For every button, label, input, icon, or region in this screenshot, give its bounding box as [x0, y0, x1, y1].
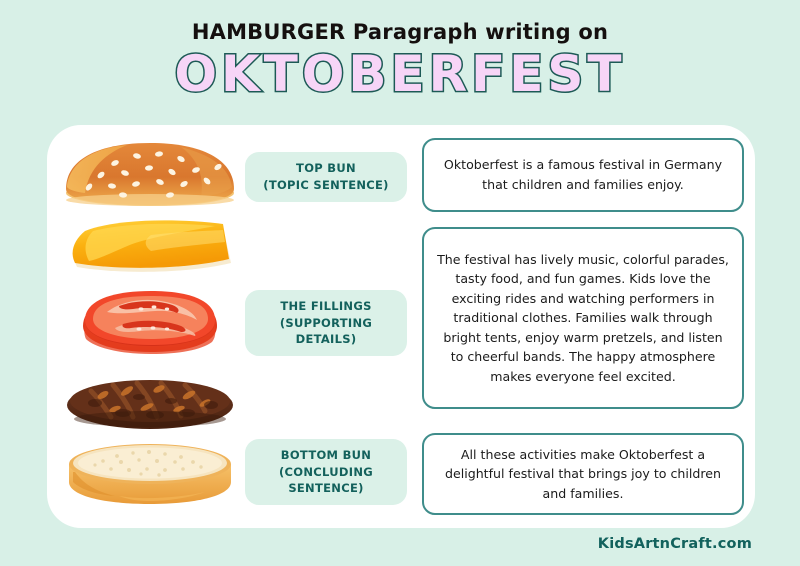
bottom-bun-image [55, 438, 245, 510]
textbox-topic-sentence-text: Oktoberfest is a famous festival in Germ… [436, 155, 730, 194]
hamburger-paragraph-layout: TOP BUN (TOPIC SENTENCE) Oktoberfest is … [47, 125, 755, 528]
page-subtitle: HAMBURGER Paragraph writing on [0, 22, 800, 43]
brand-watermark: KidsArtnCraft.com [598, 536, 752, 552]
hamburger-illustration-column [55, 125, 245, 528]
textbox-concluding-sentence-text: All these activities make Oktoberfest a … [436, 445, 730, 504]
page-header: HAMBURGER Paragraph writing on OKTOBERFE… [0, 22, 800, 102]
textbox-supporting-details-text: The festival has lively music, colorful … [436, 250, 730, 387]
label-bottom-bun-text: BOTTOM BUN (CONCLUDING SENTENCE) [279, 447, 373, 497]
tomato-slice-image [55, 288, 245, 362]
textbox-concluding-sentence: All these activities make Oktoberfest a … [422, 433, 744, 515]
textbox-supporting-details: The festival has lively music, colorful … [422, 227, 744, 409]
label-the-fillings: THE FILLINGS (SUPPORTING DETAILS) [245, 290, 407, 356]
label-top-bun-text: TOP BUN (TOPIC SENTENCE) [263, 160, 388, 193]
content-card: TOP BUN (TOPIC SENTENCE) Oktoberfest is … [47, 125, 755, 528]
sesame-top-bun-image [55, 137, 245, 211]
cheese-slice-image [55, 217, 245, 279]
label-the-fillings-text: THE FILLINGS (SUPPORTING DETAILS) [280, 298, 372, 348]
beef-patty-image [55, 373, 245, 435]
textbox-topic-sentence: Oktoberfest is a famous festival in Germ… [422, 138, 744, 212]
page-title: OKTOBERFEST [0, 47, 800, 102]
label-top-bun: TOP BUN (TOPIC SENTENCE) [245, 152, 407, 202]
label-bottom-bun: BOTTOM BUN (CONCLUDING SENTENCE) [245, 439, 407, 505]
